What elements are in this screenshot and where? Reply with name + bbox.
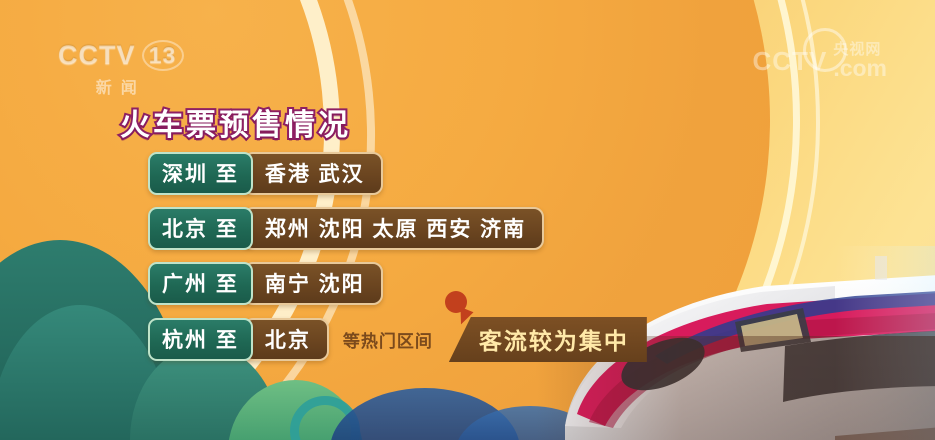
- route-destinations-pill: 北京: [243, 318, 329, 361]
- route-origin-pill: 广州 至: [148, 262, 253, 305]
- route-origin-pill: 深圳 至: [148, 152, 253, 195]
- cctv-logo-text: CCTV: [58, 40, 136, 71]
- page-title: 火车票预售情况: [120, 100, 351, 144]
- route-list: 深圳 至 香港 武汉 北京 至 郑州 沈阳 太原 西安 济南 广州 至 南宁 沈…: [148, 152, 647, 374]
- route-origin-pill: 北京 至: [148, 207, 253, 250]
- route-destinations-pill: 郑州 沈阳 太原 西安 济南: [243, 207, 544, 250]
- cctv-logo-subtitle: 新闻: [58, 74, 184, 98]
- route-row: 北京 至 郑州 沈阳 太原 西安 济南: [148, 207, 647, 250]
- broadcast-graphic: CCTV 13 新闻 CCTV 央视网 .com 火车票预售情况 深圳 至 香港…: [0, 0, 935, 440]
- route-row: 广州 至 南宁 沈阳: [148, 262, 647, 305]
- route-origin-pill: 杭州 至: [148, 318, 253, 361]
- route-row: 杭州 至 北京 等热门区间 客流较为集中: [148, 317, 647, 362]
- cctv-logo-main: CCTV 13: [58, 40, 184, 71]
- route-row: 深圳 至 香港 武汉: [148, 152, 647, 195]
- route-note-text: 等热门区间: [343, 327, 433, 352]
- callout-banner: 客流较为集中: [449, 317, 647, 362]
- route-destinations-pill: 香港 武汉: [243, 152, 383, 195]
- cctv-channel-logo: CCTV 13 新闻: [58, 40, 184, 98]
- callout-text: 客流较为集中: [449, 317, 647, 362]
- cctv-channel-number: 13: [142, 40, 184, 71]
- route-destinations-pill: 南宁 沈阳: [243, 262, 383, 305]
- watermark-ring-icon: [803, 28, 847, 72]
